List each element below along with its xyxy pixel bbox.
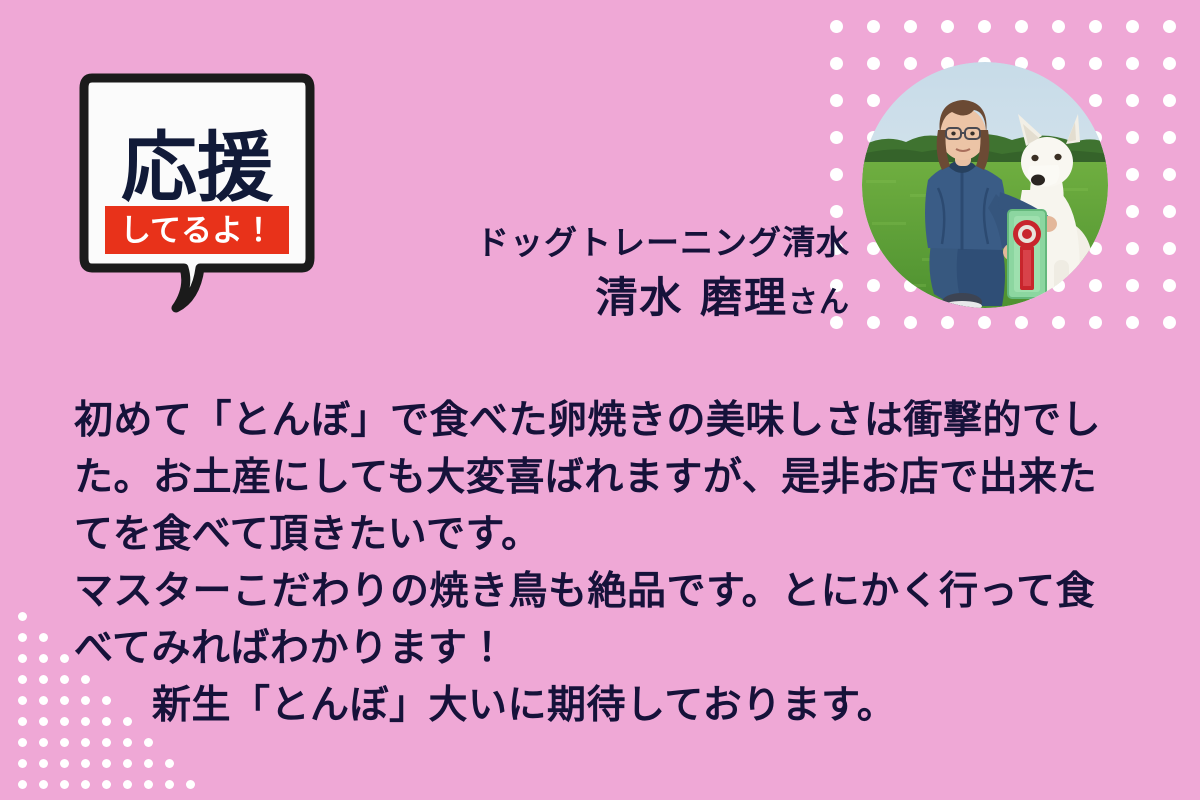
decor-dot [1163,20,1176,33]
decor-dot [1126,316,1139,329]
decor-dot [1163,205,1176,218]
decor-dot [60,780,69,789]
decor-dot [830,94,843,107]
decor-dot [18,738,27,747]
decor-dot [18,675,27,684]
decor-dot [60,759,69,768]
decor-dot [1163,242,1176,255]
decor-dot [18,780,27,789]
decor-dot [39,675,48,684]
decor-dot [867,316,880,329]
decor-dot [1126,94,1139,107]
decor-dot [867,57,880,70]
decor-dot [1089,94,1102,107]
decor-dot [18,717,27,726]
decor-dot [81,738,90,747]
decor-dot [830,205,843,218]
decor-dot [165,780,174,789]
decor-dot [18,759,27,768]
testimonial-paragraph: 初めて「とんぼ」で食べた卵焼きの美味しさは衝撃的でした。お土産にしても大変喜ばれ… [74,392,1134,563]
testimonial-paragraph: 新生「とんぼ」大いに期待しております。 [74,677,1134,734]
decor-dot [102,738,111,747]
decor-dot [1163,279,1176,292]
decor-dot [18,612,27,621]
decor-dot [144,759,153,768]
decor-dot [123,738,132,747]
decor-dot [60,717,69,726]
decor-dot [867,20,880,33]
ouen-badge: 応援 してるよ！ [78,72,316,312]
decor-dot [1052,20,1065,33]
testimonial-paragraph: マスターこだわりの焼き鳥も絶品です。とにかく行って食べてみればわかります！ [74,563,1134,677]
decor-dot [1089,279,1102,292]
decor-dot [39,738,48,747]
decor-dot [1163,94,1176,107]
decor-dot [1126,131,1139,144]
portrait-photo [862,62,1108,308]
decor-dot [867,279,880,292]
decor-dot [39,633,48,642]
decor-dot [165,759,174,768]
decor-dot [1126,20,1139,33]
decor-dot [81,780,90,789]
decor-dot [1052,57,1065,70]
badge-sub-text: してるよ！ [120,213,274,249]
decor-dot [1089,57,1102,70]
decor-dot [1089,316,1102,329]
decor-dot [18,654,27,663]
person-line: 清水 磨理さん [330,273,850,323]
decor-dot [123,780,132,789]
decor-dot [1052,316,1065,329]
decor-dot [39,717,48,726]
decor-dot [830,20,843,33]
decor-dot [60,696,69,705]
decor-dot [904,316,917,329]
decor-dot [60,654,69,663]
decor-dot [1163,168,1176,181]
decor-dot [830,168,843,181]
header-titles: ドッグトレーニング清水 清水 磨理さん [330,222,850,324]
decor-dot [1163,57,1176,70]
decor-dot [941,20,954,33]
decor-dot [830,131,843,144]
person-name: 清水 磨理 [595,273,788,322]
testimonial-card: 応援 してるよ！ ドッグトレーニング清水 清水 磨理さん 初めて「とんぼ」で食べ… [0,0,1200,800]
decor-dot [123,759,132,768]
decor-dot [60,675,69,684]
decor-dot [978,316,991,329]
decor-dot [1126,57,1139,70]
decor-dot [81,759,90,768]
decor-dot [867,94,880,107]
decor-dot [60,738,69,747]
decor-dot [904,20,917,33]
decor-dot [1163,316,1176,329]
decor-dot [186,780,195,789]
decor-dot [1089,20,1102,33]
decor-dot [1126,168,1139,181]
decor-dot [144,738,153,747]
decor-dot [39,654,48,663]
decor-dot [1126,279,1139,292]
decor-dot [1163,131,1176,144]
badge-main-text: 応援 [121,123,274,212]
decor-dot [904,57,917,70]
decor-dot [39,759,48,768]
person-suffix: さん [788,285,850,320]
decor-dot [39,780,48,789]
decor-dot [1015,20,1028,33]
decor-dot [978,20,991,33]
decor-dot [144,780,153,789]
organization-name: ドッグトレーニング清水 [330,222,850,263]
decor-dot [102,759,111,768]
testimonial-body: 初めて「とんぼ」で食べた卵焼きの美味しさは衝撃的でした。お土産にしても大変喜ばれ… [74,392,1134,734]
decor-dot [1126,242,1139,255]
decor-dot [18,696,27,705]
decor-dot [18,633,27,642]
decor-dot [941,316,954,329]
decor-dot [1126,205,1139,218]
decor-dot [39,696,48,705]
decor-dot [102,780,111,789]
decor-dot [830,57,843,70]
decor-dot [1015,316,1028,329]
